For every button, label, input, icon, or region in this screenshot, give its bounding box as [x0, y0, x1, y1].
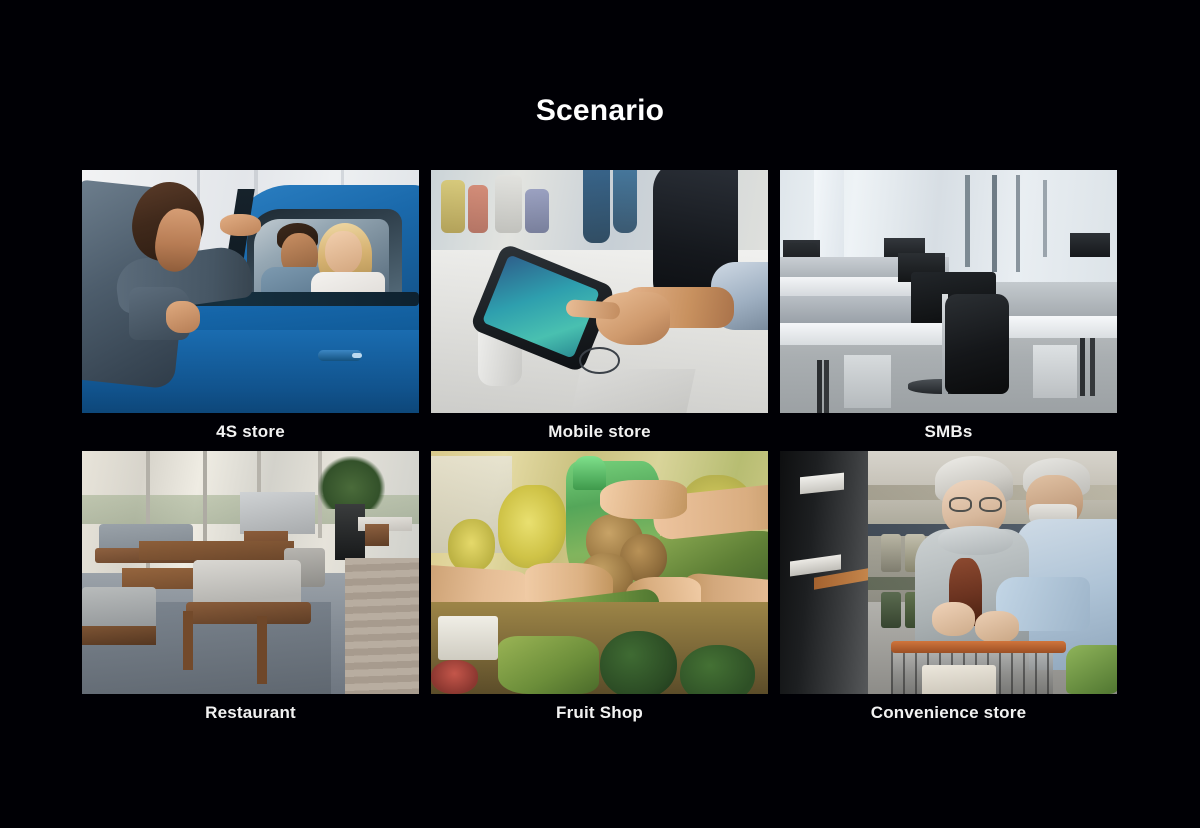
scenario-card-smbs[interactable]: SMBs [780, 170, 1117, 451]
smbs-photo [780, 170, 1117, 413]
scenario-card-restaurant[interactable]: Restaurant [82, 451, 419, 732]
scenario-label-smbs: SMBs [780, 413, 1117, 451]
restaurant-photo [82, 451, 419, 694]
scenario-card-convenience-store[interactable]: Convenience store [780, 451, 1117, 732]
scenario-image-mobile-store[interactable] [431, 170, 768, 413]
scenario-label-fruit-shop: Fruit Shop [431, 694, 768, 732]
fruit-shop-photo [431, 451, 768, 694]
scenario-image-fruit-shop[interactable] [431, 451, 768, 694]
scenario-label-restaurant: Restaurant [82, 694, 419, 732]
page-title: Scenario [0, 94, 1200, 128]
scenario-grid: 4S store [82, 170, 1118, 732]
scenario-label-mobile-store: Mobile store [431, 413, 768, 451]
scenario-card-mobile-store[interactable]: Mobile store [431, 170, 768, 451]
scenario-card-fruit-shop[interactable]: Fruit Shop [431, 451, 768, 732]
scenario-label-convenience-store: Convenience store [780, 694, 1117, 732]
scenario-image-4s-store[interactable] [82, 170, 419, 413]
scenario-label-4s-store: 4S store [82, 413, 419, 451]
scenario-image-restaurant[interactable] [82, 451, 419, 694]
scenario-card-4s-store[interactable]: 4S store [82, 170, 419, 451]
convenience-store-photo [780, 451, 1117, 694]
scenario-image-smbs[interactable] [780, 170, 1117, 413]
scenario-image-convenience-store[interactable] [780, 451, 1117, 694]
scenario-page: Scenario [0, 0, 1200, 828]
mobile-store-photo [431, 170, 768, 413]
4s-store-photo [82, 170, 419, 413]
